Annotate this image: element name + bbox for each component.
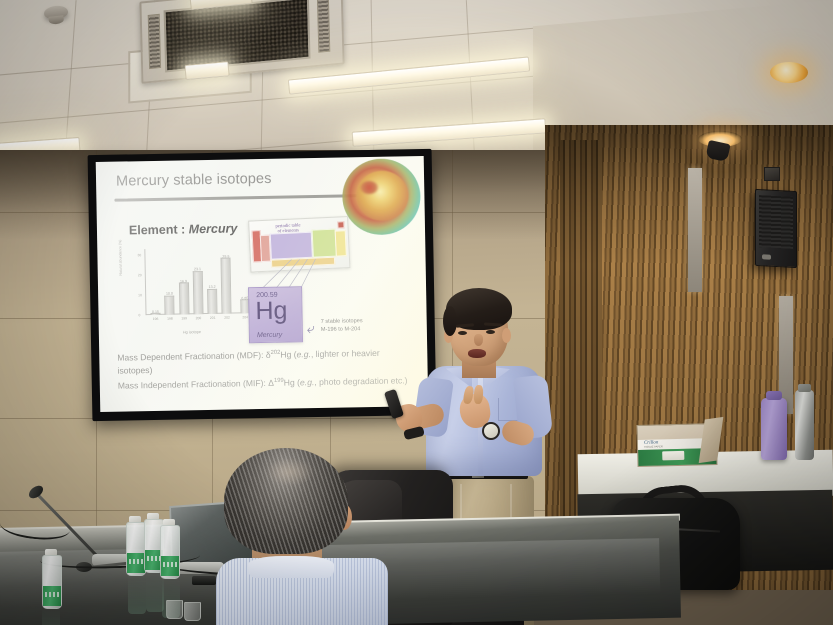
chart-bar: 16.9199 — [179, 282, 190, 314]
glass-cup[interactable] — [184, 602, 201, 621]
projection-screen[interactable]: Mercury stable isotopes Element : Mercur… — [88, 149, 437, 421]
ceiling-strip-light — [352, 118, 547, 146]
chart-bar-category: 198 — [167, 316, 173, 320]
chart-bar-value: 0.15 — [152, 310, 159, 314]
slide-title: Mercury stable isotopes — [116, 171, 272, 190]
smoke-detector-icon — [43, 5, 68, 20]
isotope-note-line1: 7 stable isotopes — [321, 318, 363, 325]
box-inner-label — [662, 451, 684, 461]
glass-cup[interactable] — [166, 600, 183, 619]
attendee-collar — [248, 556, 334, 578]
chart-bar-category: 200 — [196, 316, 202, 320]
mif-italic: e.g. — [300, 377, 315, 387]
element-heading: Element : Mercury — [129, 221, 238, 237]
ceiling-downlight — [770, 62, 808, 83]
chart-y-axis-label: Natural abundance (%) — [118, 240, 123, 276]
element-heading-name: Mercury — [189, 221, 238, 236]
eye-right — [486, 330, 495, 334]
chart-bar-value: 10.0 — [166, 292, 173, 296]
bottle-reflection — [128, 574, 146, 614]
wall-light-strip — [688, 168, 702, 292]
seated-attendee — [210, 448, 390, 625]
presentation-slide[interactable]: Mercury stable isotopes Element : Mercur… — [96, 156, 429, 412]
chart-bar: 23.1200 — [193, 271, 204, 314]
isotope-abundance-chart: Natural abundance (%) 0 10 20 30 0.15196… — [119, 247, 249, 333]
chart-bar: 13.2201 — [207, 289, 217, 314]
element-name: Mercury — [257, 332, 282, 339]
mouth — [468, 349, 486, 358]
chart-bar-value: 13.2 — [209, 285, 216, 289]
conference-room-photo: Mercury stable isotopes Element : Mercur… — [0, 0, 833, 625]
bottle-body — [160, 525, 180, 579]
nose — [474, 334, 483, 346]
mdf-italic: e.g. — [296, 349, 311, 359]
speaker-grille-icon — [759, 195, 793, 249]
chart-bar-category: 202 — [224, 315, 230, 319]
bottle-body — [42, 555, 62, 609]
speaker-logo — [762, 254, 771, 259]
eye-left — [458, 331, 467, 335]
element-heading-prefix: Element : — [129, 222, 189, 237]
ear-right — [502, 328, 511, 343]
chart-bar-category: 199 — [181, 316, 187, 320]
mdf-prefix: Mass Dependent Fractionation (MDF): δ — [117, 350, 270, 363]
wall-mount-plate — [764, 167, 780, 181]
element-symbol: Hg — [255, 299, 287, 325]
presenter-hair — [446, 288, 512, 330]
chart-bar-value: 16.9 — [180, 279, 187, 283]
ac-grille-icon — [164, 0, 311, 73]
ceiling-air-conditioner — [139, 0, 344, 84]
mif-prefix: Mass Independent Fractionation (MIF): Δ — [118, 378, 274, 391]
chart-bar-value: 29.9 — [222, 254, 229, 258]
bullet-mdf: Mass Dependent Fractionation (MDF): δ202… — [117, 346, 407, 378]
mdf-superscript: 202 — [271, 350, 281, 356]
mercury-element-card: 200.59 Hg Mercury — [248, 286, 303, 343]
bottle-label — [127, 553, 145, 573]
mdf-mid: Hg ( — [280, 349, 296, 359]
bottle-label — [161, 556, 179, 576]
chart-x-axis-label: Hg isotope — [183, 330, 201, 334]
steel-thermos — [795, 390, 814, 460]
attendee-scalp — [266, 458, 314, 486]
isotope-note-line2: M-196 to M-204 — [321, 326, 361, 333]
bottle-label — [43, 586, 61, 606]
wristwatch — [482, 422, 500, 440]
chart-bar-value: 23.1 — [194, 267, 201, 271]
chart-bar: 10.0198 — [164, 295, 174, 314]
mif-suffix: , photo degradation etc.) — [314, 375, 407, 387]
purple-thermos — [761, 398, 787, 460]
bottle-reflection — [42, 607, 60, 625]
chart-bar-category: 196 — [153, 316, 159, 320]
curved-arrow-icon: ⤶ — [307, 320, 315, 337]
chart-bar-category: 201 — [210, 315, 216, 319]
pt-legend-swatch — [337, 221, 344, 228]
chart-bar: 29.9202 — [221, 258, 232, 314]
chart-bar: 0.15196 — [151, 313, 161, 315]
chart-bar-category: 204 — [242, 315, 248, 319]
isotope-note: 7 stable isotopesM-196 to M-204 — [321, 317, 363, 334]
chart-plot-area: 0.1519610.019816.919923.120013.220129.92… — [145, 249, 246, 315]
bottle-body — [126, 522, 146, 576]
mif-mid: Hg ( — [284, 377, 300, 387]
box-sub-text: TISSUE PAPER — [644, 445, 663, 448]
wall-speaker — [755, 189, 797, 268]
mif-superscript: 199 — [274, 378, 284, 384]
